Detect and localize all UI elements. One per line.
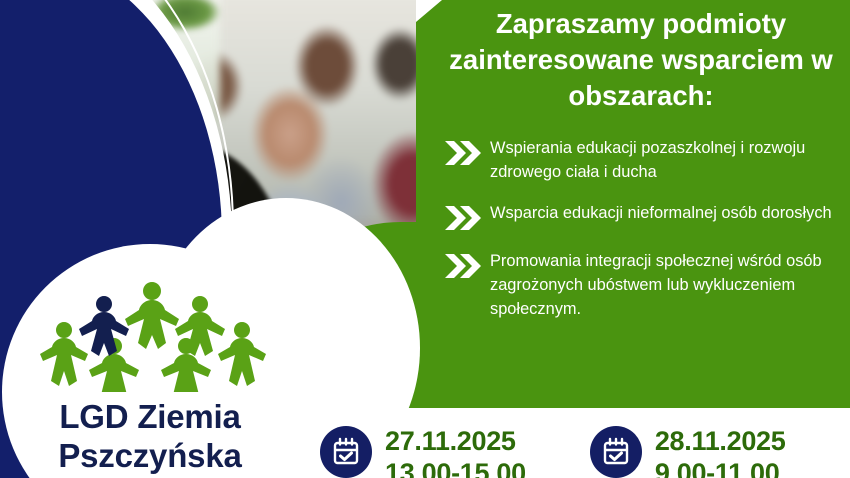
double-chevron-right-icon bbox=[444, 136, 490, 167]
logo-name-line-1: LGD Ziemia bbox=[2, 398, 298, 437]
list-item: Promowania integracji społecznej wśród o… bbox=[444, 249, 844, 321]
double-chevron-right-icon bbox=[444, 201, 490, 232]
poster-root: Zapraszamy podmioty zainteresowane wspar… bbox=[0, 0, 850, 478]
list-item-label: Wsparcia edukacji nieformalnej osób doro… bbox=[490, 201, 832, 226]
date-block: 27.11.2025 13.00-15.00 bbox=[320, 426, 526, 478]
list-item: Wsparcia edukacji nieformalnej osób doro… bbox=[444, 201, 844, 232]
double-chevron-right-icon bbox=[444, 249, 490, 280]
date-block: 28.11.2025 9.00-11.00 bbox=[590, 426, 786, 478]
logo-name-line-2: Pszczyńska bbox=[2, 437, 298, 476]
bullet-list: Wspierania edukacji pozaszkolnej i rozwo… bbox=[444, 136, 844, 338]
calendar-check-icon bbox=[590, 426, 642, 478]
date-text-group: 28.11.2025 9.00-11.00 bbox=[655, 426, 786, 478]
list-item-label: Promowania integracji społecznej wśród o… bbox=[490, 249, 844, 321]
event-date: 28.11.2025 bbox=[655, 426, 786, 458]
event-time: 13.00-15.00 bbox=[385, 458, 526, 478]
event-date: 27.11.2025 bbox=[385, 426, 526, 458]
page-title: Zapraszamy podmioty zainteresowane wspar… bbox=[440, 6, 842, 113]
people-circle-icon bbox=[36, 276, 268, 392]
calendar-check-icon bbox=[320, 426, 372, 478]
dates-row: 27.11.2025 13.00-15.00 28.11. bbox=[306, 408, 850, 478]
event-time: 9.00-11.00 bbox=[655, 458, 786, 478]
green-corner-notch bbox=[416, 0, 442, 22]
date-text-group: 27.11.2025 13.00-15.00 bbox=[385, 426, 526, 478]
list-item: Wspierania edukacji pozaszkolnej i rozwo… bbox=[444, 136, 844, 184]
dates-card: 27.11.2025 13.00-15.00 28.11. bbox=[306, 408, 850, 478]
logo-wordmark: LGD Ziemia Pszczyńska bbox=[2, 398, 298, 476]
list-item-label: Wspierania edukacji pozaszkolnej i rozwo… bbox=[490, 136, 844, 184]
